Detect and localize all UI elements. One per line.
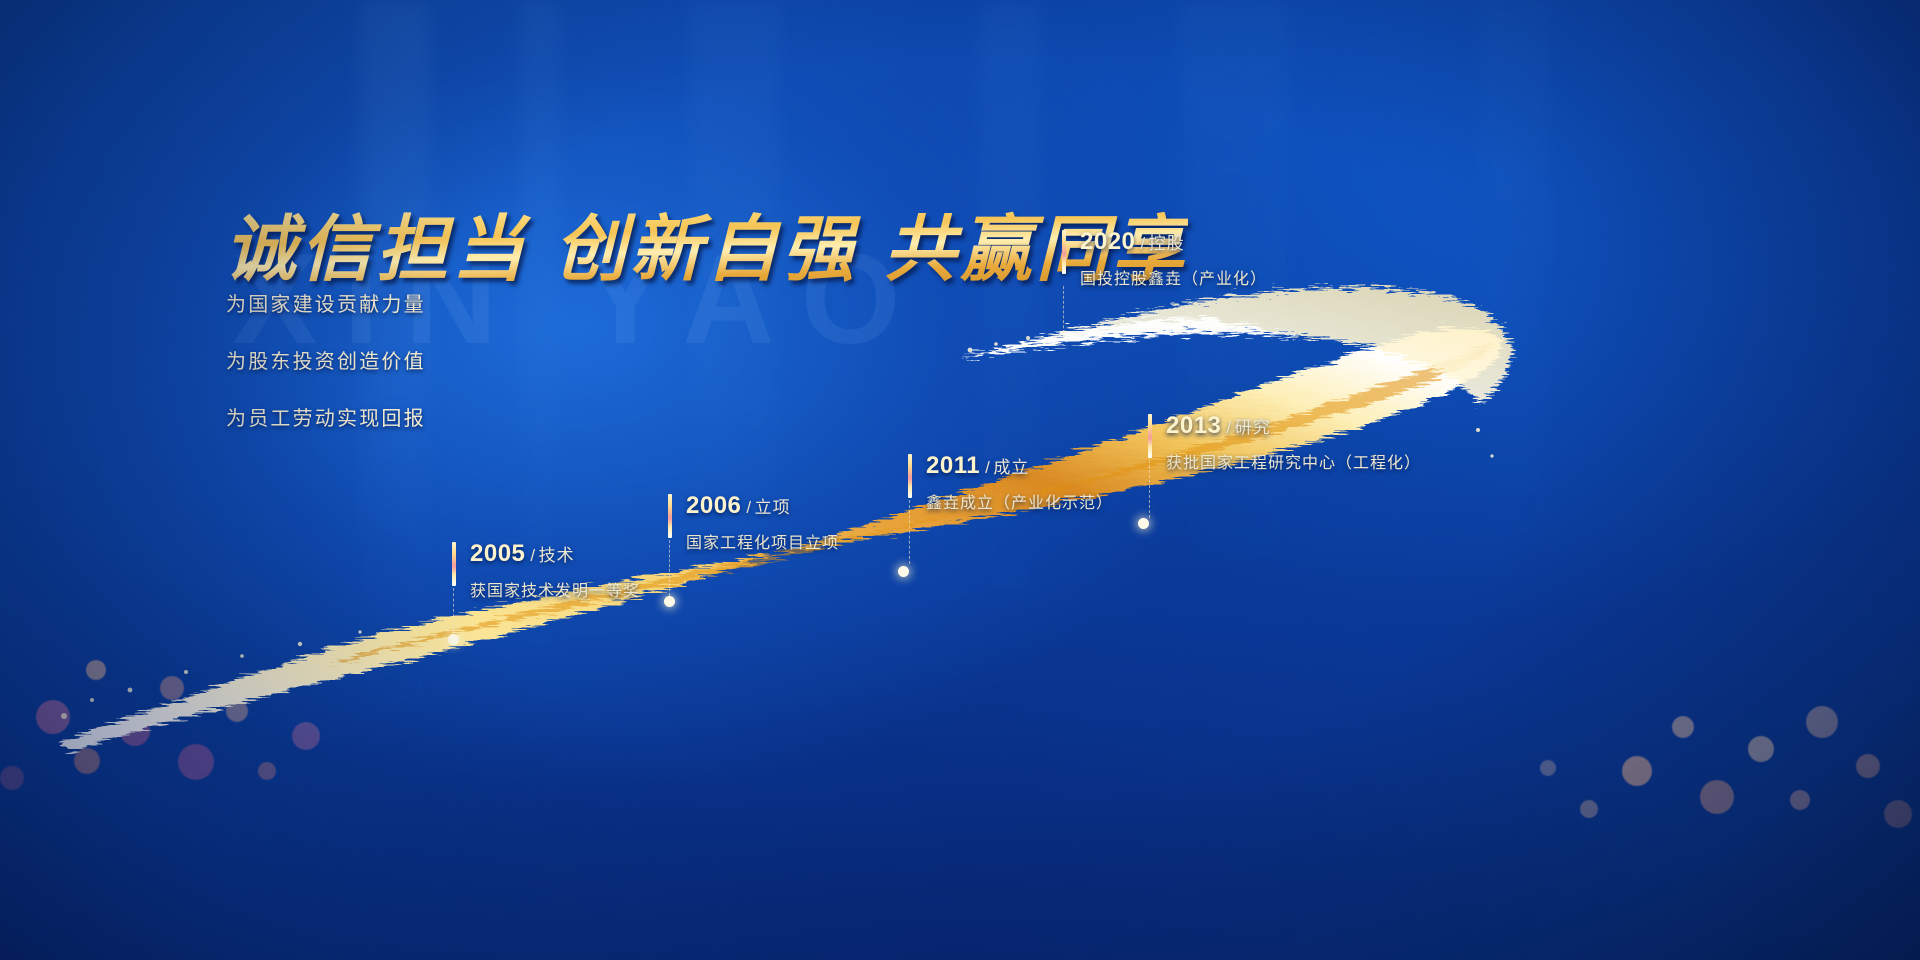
milestone-description: 鑫垚成立（产业化示范） [926, 489, 1113, 513]
milestone-accent-bar [668, 494, 672, 538]
milestone-category: 立项 [755, 498, 791, 517]
slogan-line: 为国家建设贡献力量 [226, 288, 426, 317]
leader-line-2020 [1063, 286, 1064, 338]
leader-line-2005 [453, 588, 454, 638]
milestone-accent-bar [1062, 230, 1066, 274]
timeline-node-2005[interactable] [448, 634, 459, 645]
leader-line-2006 [669, 540, 670, 596]
milestone-accent-bar [1148, 414, 1152, 458]
headline-part-2: 创新自强 [554, 206, 858, 291]
page-title: 诚信担当创新自强共赢同享 [224, 190, 1188, 295]
milestone-separator: / [1140, 234, 1145, 253]
milestone-description: 获国家技术发明一等奖 [470, 577, 640, 601]
slogan-line: 为员工劳动实现回报 [226, 402, 426, 431]
milestone-description: 国家工程化项目立项 [686, 529, 839, 553]
milestone-separator: / [985, 458, 990, 477]
milestone-category: 控股 [1149, 234, 1185, 253]
milestone-2020[interactable]: 2020/控股 国投控股鑫垚（产业化） [1062, 228, 1267, 289]
milestone-2013[interactable]: 2013/研究 获批国家工程研究中心（工程化） [1148, 412, 1421, 473]
milestone-2005[interactable]: 2005/技术 获国家技术发明一等奖 [452, 540, 640, 601]
timeline-node-2011[interactable] [898, 566, 909, 577]
poster-canvas: XIN YAO 诚信担当创新自强共赢同享 为国家建设贡献力量 为股东投资创造价值… [0, 0, 1920, 960]
milestone-2006[interactable]: 2006/立项 国家工程化项目立项 [668, 492, 839, 553]
milestone-category: 成立 [993, 458, 1029, 477]
slogan-line: 为股东投资创造价值 [226, 345, 426, 374]
milestone-year: 2011 [926, 452, 980, 479]
milestone-year: 2020 [1080, 228, 1135, 255]
milestone-separator: / [530, 546, 535, 565]
slogan-list: 为国家建设贡献力量 为股东投资创造价值 为员工劳动实现回报 [226, 288, 426, 459]
milestone-category: 技术 [539, 546, 575, 565]
leader-line-2011 [909, 500, 910, 564]
milestone-year: 2013 [1166, 412, 1221, 439]
headline-part-1: 诚信担当 [224, 206, 528, 291]
milestone-accent-bar [908, 454, 912, 498]
milestone-description: 国投控股鑫垚（产业化） [1080, 265, 1267, 289]
leader-line-2013 [1149, 460, 1150, 518]
milestone-accent-bar [452, 542, 456, 586]
milestone-year: 2006 [686, 492, 741, 519]
milestone-description: 获批国家工程研究中心（工程化） [1166, 449, 1421, 473]
milestone-separator: / [746, 498, 751, 517]
milestone-category: 研究 [1235, 418, 1271, 437]
timeline-node-2006[interactable] [664, 596, 675, 607]
timeline-node-2013[interactable] [1138, 518, 1149, 529]
milestone-year: 2005 [470, 540, 525, 567]
milestone-separator: / [1226, 418, 1231, 437]
milestone-2011[interactable]: 2011/成立 鑫垚成立（产业化示范） [908, 452, 1113, 513]
